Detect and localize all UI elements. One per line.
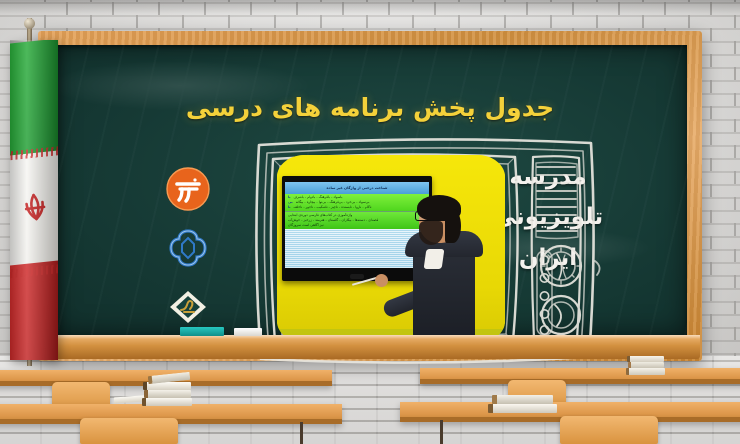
tv-screen-photo: شناخت درختی از واژگان غیر ساده باسواد - …	[277, 155, 505, 343]
blackboard-surface: جدول پخش برنامه های درسی مدرسه تلویزیونی…	[53, 45, 687, 335]
teacher-figure	[395, 193, 487, 343]
ministry-of-education-logo	[164, 224, 212, 272]
row-value: ناکام - ناروا - نابسنده - ناچیز - ناشکیب…	[294, 205, 372, 210]
page-title: جدول پخش برنامه های درسی	[53, 93, 687, 122]
desk-leg-1	[300, 422, 303, 444]
chair-front-row-1	[80, 418, 178, 444]
chalk-stick	[234, 328, 262, 336]
board-eraser	[180, 327, 224, 336]
teacher-hair-side	[445, 209, 461, 243]
row-key: نا	[288, 205, 291, 210]
teacher-collar	[424, 249, 445, 269]
top-shadow	[0, 0, 740, 14]
flag-cloth	[10, 40, 58, 360]
flag-pole-finial	[24, 18, 35, 29]
classroom-desks	[0, 360, 740, 444]
chalk-ledge	[40, 335, 700, 359]
iran-flag	[2, 18, 68, 366]
blackboard-frame: جدول پخش برنامه های درسی مدرسه تلویزیونی…	[38, 31, 702, 361]
shahid-rajaee-logo	[164, 283, 212, 331]
chair-front-row-2	[560, 416, 658, 444]
teacher-hand	[375, 274, 388, 287]
desk-leg-2	[440, 420, 443, 444]
flag-shading	[10, 40, 58, 360]
classroom-scene: جدول پخش برنامه های درسی مدرسه تلویزیونی…	[0, 0, 740, 444]
logo-column	[159, 165, 217, 331]
monitor-stand	[350, 274, 364, 279]
chalk-television-drawing: شناخت درختی از واژگان غیر ساده باسواد - …	[249, 131, 601, 369]
desk-back-right	[420, 368, 740, 384]
irib-amouzesh-logo	[164, 165, 212, 213]
teacher-beard	[419, 221, 443, 245]
